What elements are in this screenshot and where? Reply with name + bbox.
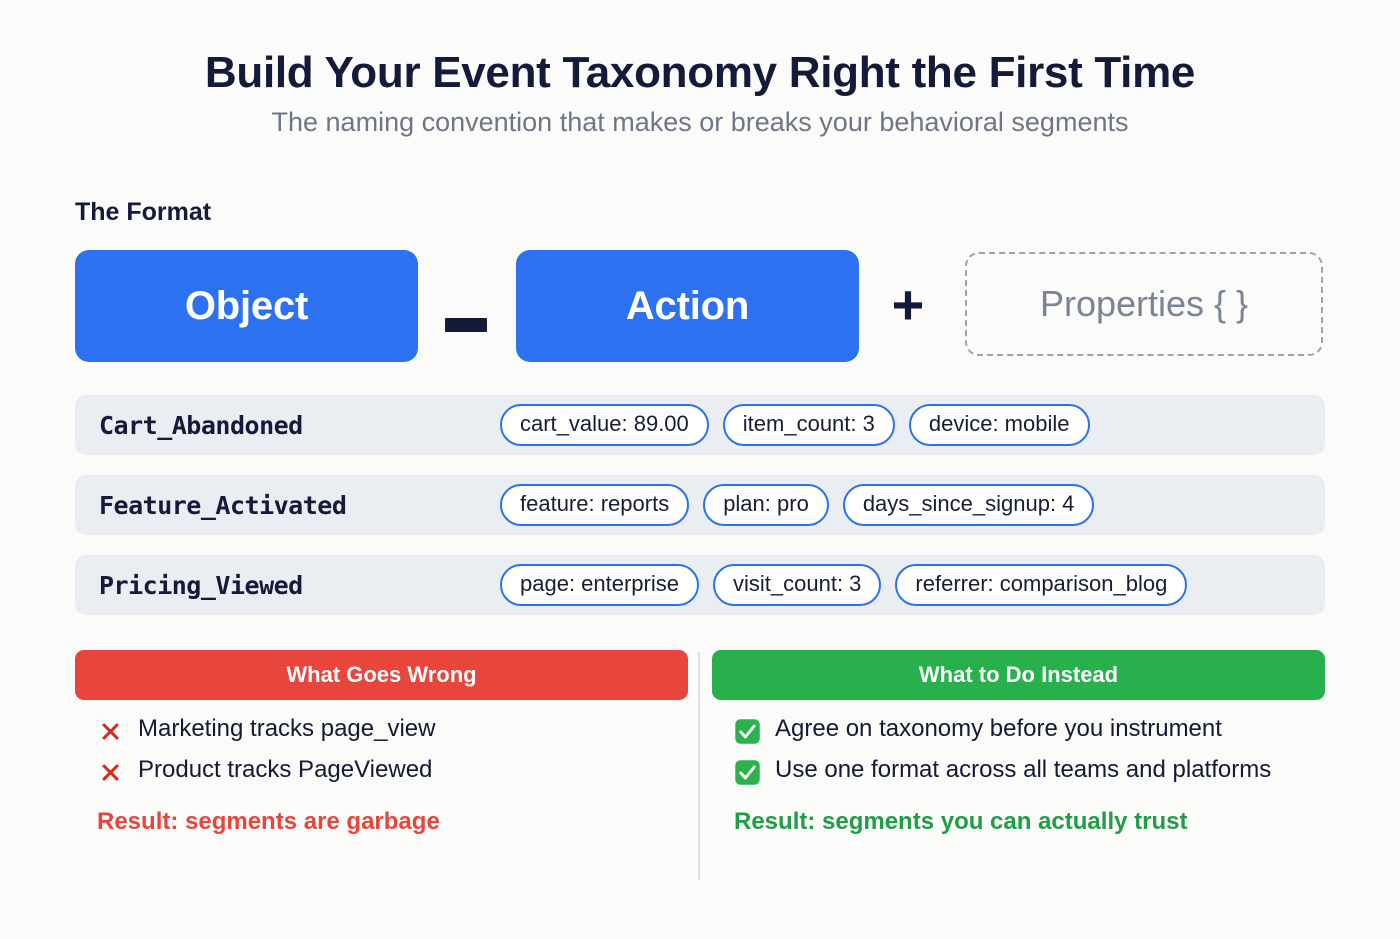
underscore-separator-icon (445, 318, 487, 332)
event-name: Cart_Abandoned (75, 411, 500, 440)
page-header: Build Your Event Taxonomy Right the Firs… (0, 0, 1400, 138)
check-mark-icon (734, 718, 761, 745)
column-header-wrong: What Goes Wrong (75, 650, 688, 700)
event-name: Pricing_Viewed (75, 571, 500, 600)
list-item: Product tracks PageViewed (75, 755, 688, 786)
page-title: Build Your Event Taxonomy Right the Firs… (0, 48, 1400, 97)
property-pill-group: page: enterprise visit_count: 3 referrer… (500, 564, 1187, 606)
cross-mark-icon (97, 759, 124, 786)
format-properties-box: Properties { } (965, 252, 1323, 356)
property-pill: feature: reports (500, 484, 689, 526)
infographic-page: Build Your Event Taxonomy Right the Firs… (0, 0, 1400, 939)
column-what-to-do-instead: What to Do Instead Agree on taxonomy bef… (712, 650, 1325, 836)
list-item-label: Product tracks PageViewed (138, 755, 432, 786)
comparison-section: What Goes Wrong Marketing tracks page_vi… (75, 650, 1325, 880)
format-action-label: Action (626, 284, 749, 329)
list-item-label: Marketing tracks page_view (138, 714, 435, 745)
table-row: Pricing_Viewed page: enterprise visit_co… (75, 555, 1325, 615)
property-pill: days_since_signup: 4 (843, 484, 1095, 526)
table-row: Feature_Activated feature: reports plan:… (75, 475, 1325, 535)
list-item-label: Agree on taxonomy before you instrument (775, 714, 1222, 745)
column-header-right-label: What to Do Instead (919, 662, 1118, 688)
property-pill: plan: pro (703, 484, 829, 526)
section-label-format: The Format (75, 198, 211, 227)
list-item: Marketing tracks page_view (75, 714, 688, 745)
property-pill: page: enterprise (500, 564, 699, 606)
format-action-box: Action (516, 250, 859, 362)
format-object-label: Object (185, 284, 308, 329)
column-what-goes-wrong: What Goes Wrong Marketing tracks page_vi… (75, 650, 688, 836)
event-examples-list: Cart_Abandoned cart_value: 89.00 item_co… (75, 395, 1325, 635)
property-pill-group: feature: reports plan: pro days_since_si… (500, 484, 1094, 526)
column-divider (698, 652, 700, 880)
list-item: Use one format across all teams and plat… (712, 755, 1325, 786)
property-pill: visit_count: 3 (713, 564, 881, 606)
check-mark-icon (734, 759, 761, 786)
property-pill: cart_value: 89.00 (500, 404, 709, 446)
page-subtitle: The naming convention that makes or brea… (0, 107, 1400, 138)
result-wrong: Result: segments are garbage (75, 808, 688, 836)
plus-icon: + (885, 284, 931, 330)
cross-mark-icon (97, 718, 124, 745)
list-item-label: Use one format across all teams and plat… (775, 755, 1271, 786)
property-pill-group: cart_value: 89.00 item_count: 3 device: … (500, 404, 1090, 446)
result-right: Result: segments you can actually trust (712, 808, 1325, 836)
format-properties-label: Properties { } (1040, 283, 1248, 325)
right-bullet-list: Agree on taxonomy before you instrument … (712, 714, 1325, 786)
event-name: Feature_Activated (75, 491, 500, 520)
property-pill: device: mobile (909, 404, 1090, 446)
property-pill: referrer: comparison_blog (895, 564, 1187, 606)
column-header-right: What to Do Instead (712, 650, 1325, 700)
table-row: Cart_Abandoned cart_value: 89.00 item_co… (75, 395, 1325, 455)
column-header-wrong-label: What Goes Wrong (286, 662, 476, 688)
format-diagram: Object Action + Properties { } (75, 250, 1325, 362)
wrong-bullet-list: Marketing tracks page_view Product track… (75, 714, 688, 786)
format-object-box: Object (75, 250, 418, 362)
property-pill: item_count: 3 (723, 404, 895, 446)
list-item: Agree on taxonomy before you instrument (712, 714, 1325, 745)
